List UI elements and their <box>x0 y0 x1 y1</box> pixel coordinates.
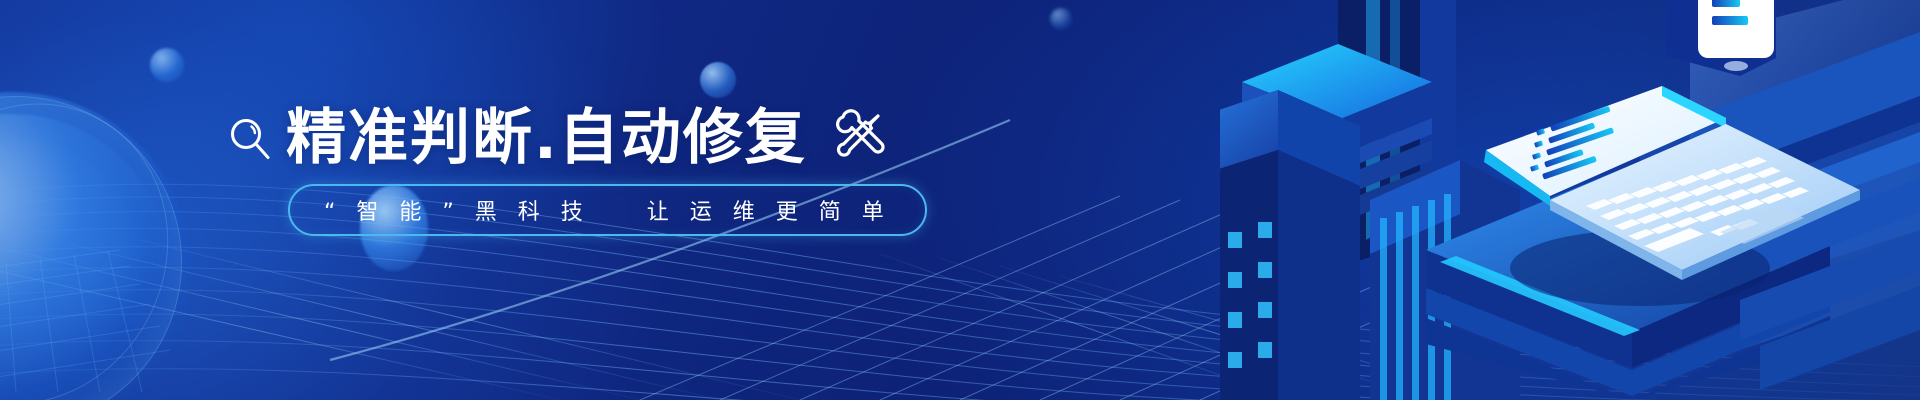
wrench-screwdriver-icon <box>831 109 889 167</box>
isometric-smart-city-laptop <box>1220 0 1920 400</box>
subtitle-text: “ 智 能 ” 黑 科 技 让 运 维 更 简 单 <box>324 194 891 226</box>
headline-row: 精准判断.自动修复 <box>228 108 889 168</box>
subtitle-pill: “ 智 能 ” 黑 科 技 让 运 维 更 简 单 <box>288 184 927 236</box>
floating-tablet-card <box>1666 0 1776 76</box>
headline-text: 精准判断.自动修复 <box>286 108 807 168</box>
promo-banner: 精准判断.自动修复 “ 智 能 ” 黑 科 技 让 运 维 更 简 单 <box>0 0 1920 400</box>
search-magnifier-icon <box>228 114 272 162</box>
apartment-building <box>1220 90 1360 400</box>
